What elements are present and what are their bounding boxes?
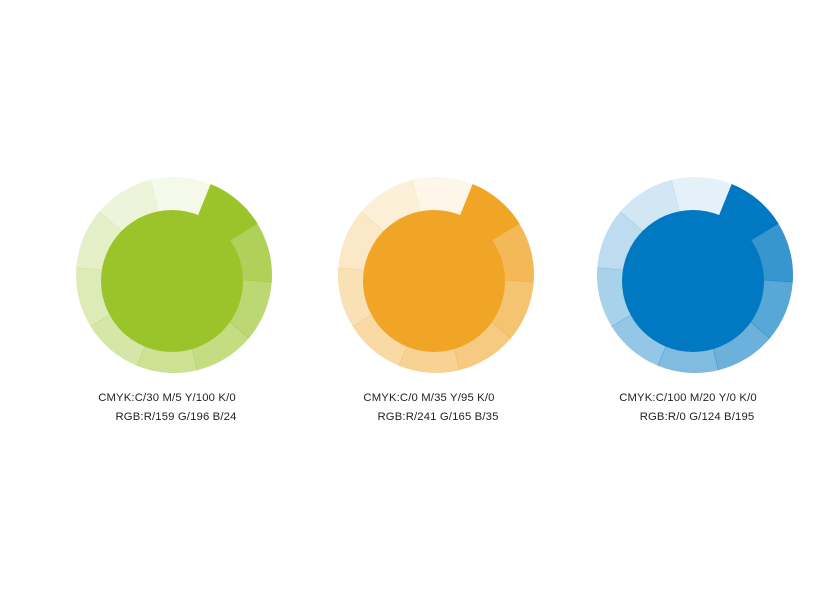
color-wheel-blue-wrap (595, 175, 795, 375)
color-wheel-green-icon (74, 175, 274, 375)
swatch-caption-orange: CMYK:C/0 M/35 Y/95 K/0 RGB:R/241 G/165 B… (306, 389, 566, 427)
swatch-group-orange: CMYK:C/0 M/35 Y/95 K/0 RGB:R/241 G/165 B… (306, 175, 566, 427)
rgb-value-blue: RGB:R/0 G/124 B/195 (565, 408, 825, 427)
cmyk-value-orange: CMYK:C/0 M/35 Y/95 K/0 (306, 389, 566, 408)
swatch-caption-green: CMYK:C/30 M/5 Y/100 K/0 RGB:R/159 G/196 … (44, 389, 304, 427)
rgb-value-green: RGB:R/159 G/196 B/24 (44, 408, 304, 427)
color-wheel-blue-icon (595, 175, 795, 375)
swatch-group-green: CMYK:C/30 M/5 Y/100 K/0 RGB:R/159 G/196 … (44, 175, 304, 427)
cmyk-value-blue: CMYK:C/100 M/20 Y/0 K/0 (565, 389, 825, 408)
palette-board: CMYK:C/30 M/5 Y/100 K/0 RGB:R/159 G/196 … (0, 0, 838, 597)
cmyk-value-green: CMYK:C/30 M/5 Y/100 K/0 (44, 389, 304, 408)
swatch-caption-blue: CMYK:C/100 M/20 Y/0 K/0 RGB:R/0 G/124 B/… (565, 389, 825, 427)
swatch-group-blue: CMYK:C/100 M/20 Y/0 K/0 RGB:R/0 G/124 B/… (565, 175, 825, 427)
color-wheel-green-wrap (74, 175, 274, 375)
rgb-value-orange: RGB:R/241 G/165 B/35 (306, 408, 566, 427)
color-wheel-orange-icon (336, 175, 536, 375)
color-wheel-orange-wrap (336, 175, 536, 375)
